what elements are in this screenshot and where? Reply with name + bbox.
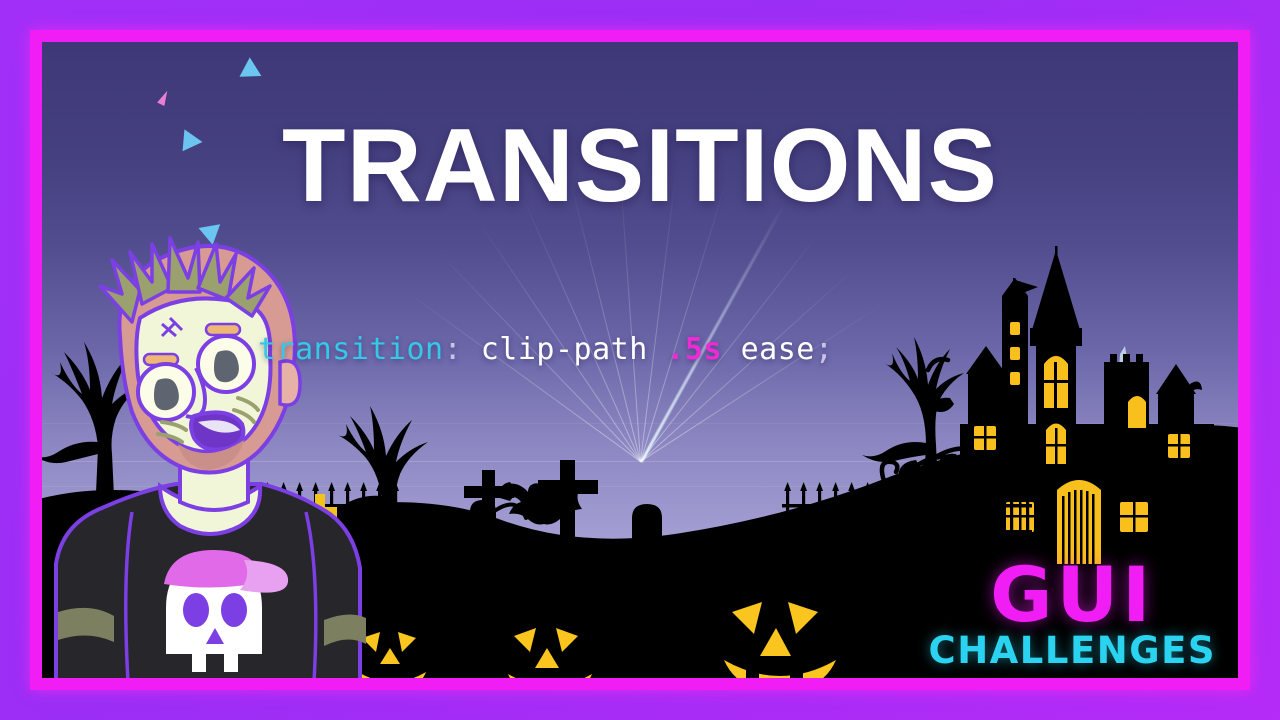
bat-icon [497, 472, 592, 532]
logo-secondary-text: CHALLENGES [929, 633, 1216, 668]
scene-canvas: TRANSITIONS transition: clip-path .5s ea… [42, 42, 1238, 678]
jack-o-lantern-icon [690, 542, 870, 678]
code-semicolon: ; [815, 332, 834, 367]
code-duration: .5s [666, 332, 722, 367]
gui-challenges-logo: GUI CHALLENGES [929, 559, 1216, 668]
curly-vine-icon [778, 350, 978, 570]
code-property: transition [258, 332, 444, 367]
thumbnail-root: TRANSITIONS transition: clip-path .5s ea… [0, 0, 1280, 720]
page-title: TRANSITIONS [42, 114, 1238, 218]
avatar-character [48, 212, 378, 678]
code-colon: : [444, 332, 463, 367]
code-value: clip-path [481, 332, 648, 367]
code-snippet: transition: clip-path .5s ease; [258, 332, 833, 367]
code-easing: ease [741, 332, 815, 367]
jack-o-lantern-icon [480, 578, 620, 678]
logo-primary-text: GUI [929, 559, 1216, 631]
